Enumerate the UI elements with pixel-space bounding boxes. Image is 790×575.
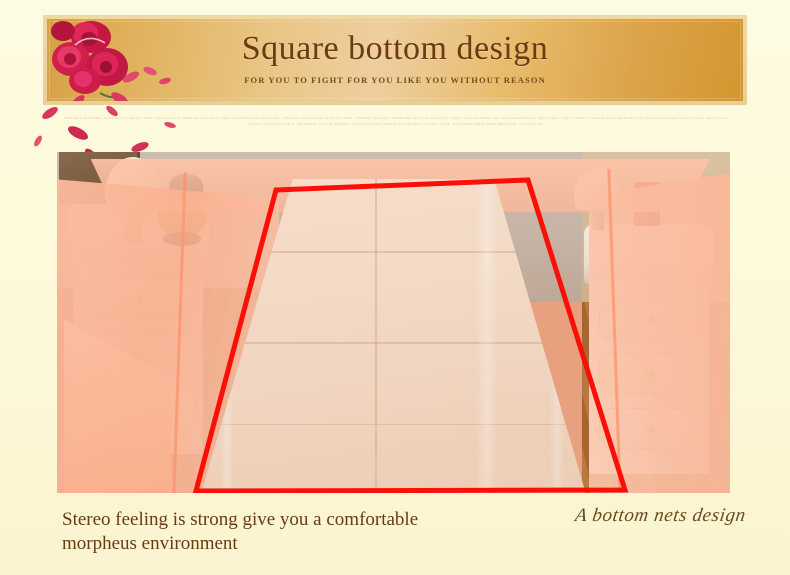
gold-banner: Square bottom design FOR YOU TO FIGHT FO… (47, 19, 743, 101)
micro-paragraph: BECAME A SEARCHER, WANTING TO FIND OUT W… (60, 116, 732, 127)
product-banner-page: Square bottom design FOR YOU TO FIGHT FO… (0, 0, 790, 575)
banner-title: Square bottom design (47, 30, 743, 68)
product-photo (57, 152, 730, 493)
sheet-fold (476, 179, 498, 493)
script-caption: A bottom nets design (566, 505, 754, 527)
photo-scene (57, 152, 730, 493)
sheet-fold (549, 179, 565, 493)
sheet-seam-vertical (375, 179, 377, 493)
main-caption: Stereo feeling is strong give you a comf… (62, 508, 492, 556)
banner-subtitle: FOR YOU TO FIGHT FOR YOU LIKE YOU WITHOU… (47, 75, 743, 85)
mosquito-net (57, 159, 730, 493)
gold-banner-frame: Square bottom design FOR YOU TO FIGHT FO… (43, 15, 747, 105)
